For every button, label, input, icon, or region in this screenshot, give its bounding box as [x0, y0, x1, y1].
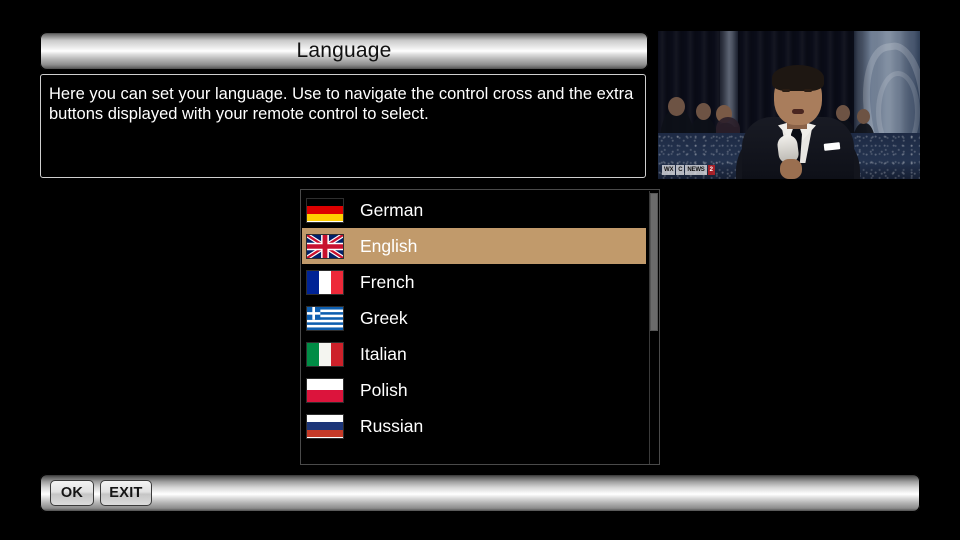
- flag-france-icon: [306, 270, 344, 295]
- list-item-label: French: [360, 272, 414, 293]
- flag-greece-icon: [306, 306, 344, 331]
- flag-poland-icon: [306, 378, 344, 403]
- preview-reporter-eye: [782, 89, 790, 92]
- list-item-label: Italian: [360, 344, 407, 365]
- list-item-label: Greek: [360, 308, 408, 329]
- preview-reporter-hand: [780, 159, 802, 179]
- bottom-action-bar: OK EXIT: [40, 474, 920, 512]
- preview-crowd-head: [836, 105, 850, 121]
- live-tv-preview[interactable]: WX C NEWS 2: [658, 31, 920, 179]
- list-item-german[interactable]: German: [302, 192, 646, 228]
- page-title: Language: [40, 39, 648, 63]
- flag-russia-icon: [306, 414, 344, 439]
- list-item-greek[interactable]: Greek: [302, 300, 646, 336]
- preview-crowd-head: [857, 109, 870, 124]
- list-item-polish[interactable]: Polish: [302, 372, 646, 408]
- ok-button[interactable]: OK: [50, 480, 94, 506]
- channel-bug-part: WX: [662, 165, 675, 175]
- list-item-label: German: [360, 200, 423, 221]
- flag-italy-icon: [306, 342, 344, 367]
- exit-button[interactable]: EXIT: [100, 480, 152, 506]
- preview-reporter-hair: [772, 65, 824, 91]
- description-text: Here you can set your language. Use to n…: [49, 84, 637, 124]
- language-list: German English: [302, 192, 646, 444]
- channel-bug-part: 2: [708, 165, 715, 175]
- exit-button-label: EXIT: [109, 485, 142, 501]
- preview-reporter-mouth: [792, 109, 804, 114]
- list-scrollbar-thumb[interactable]: [650, 193, 658, 331]
- list-item-label: Russian: [360, 416, 423, 437]
- flag-germany-icon: [306, 198, 344, 223]
- list-scrollbar-track[interactable]: [649, 191, 658, 465]
- preview-crowd-head: [696, 103, 711, 120]
- ok-button-label: OK: [61, 485, 83, 501]
- preview-crowd-head: [668, 97, 685, 116]
- channel-bug-part: C: [676, 165, 684, 175]
- title-bar: Language: [40, 32, 648, 70]
- description-box: Here you can set your language. Use to n…: [40, 74, 646, 178]
- list-item-italian[interactable]: Italian: [302, 336, 646, 372]
- channel-bug-part: NEWS: [685, 165, 706, 175]
- channel-bug: WX C NEWS 2: [662, 165, 715, 175]
- list-item-label: English: [360, 236, 417, 257]
- preview-reporter-eye: [804, 89, 812, 92]
- list-item-russian[interactable]: Russian: [302, 408, 646, 444]
- list-item-french[interactable]: French: [302, 264, 646, 300]
- language-list-panel: German English: [300, 189, 660, 465]
- tv-settings-screen: Language Here you can set your language.…: [0, 0, 960, 540]
- list-item-english[interactable]: English: [302, 228, 646, 264]
- flag-united-kingdom-icon: [306, 234, 344, 259]
- list-item-label: Polish: [360, 380, 408, 401]
